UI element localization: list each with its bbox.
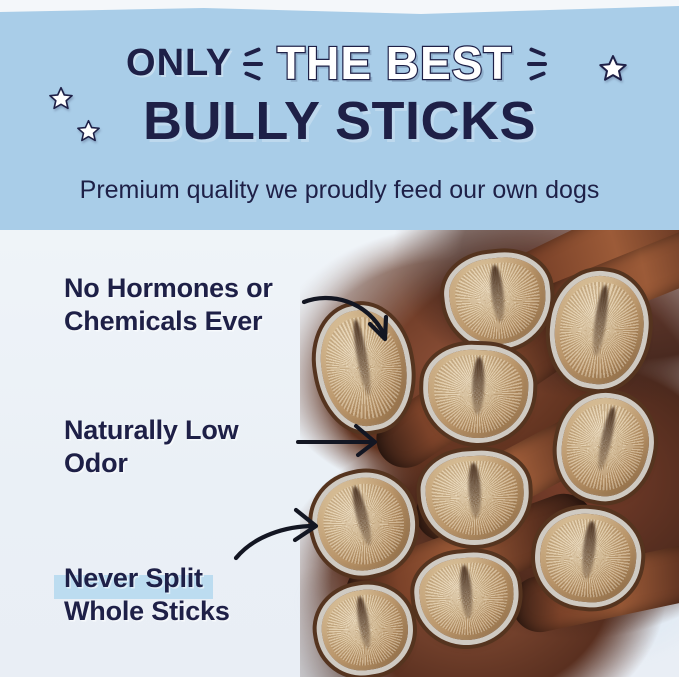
callout-low-odor: Naturally Low Odor	[64, 414, 238, 480]
callout-no-hormones: No Hormones or Chemicals Ever	[64, 272, 273, 338]
curved-arrow-up-right-icon	[232, 502, 337, 572]
straight-arrow-right-icon	[296, 420, 388, 460]
headline-line-2: BULLY STICKS	[0, 90, 679, 152]
header-banner: ONLY THE BEST BULLY STICKS Premium quali…	[0, 6, 679, 230]
headline-line-1: ONLY THE BEST	[0, 36, 679, 90]
headline-the-best: THE BEST	[277, 36, 512, 90]
headline-only: ONLY	[126, 42, 232, 85]
callout-line-1: Naturally Low	[64, 414, 238, 447]
callout-line-1: No Hormones or	[64, 272, 273, 305]
sparkle-burst-left-icon	[242, 41, 268, 85]
callout-never-split: Never Split Whole Sticks	[64, 562, 230, 628]
callout-highlight: Never Split	[64, 562, 203, 595]
callout-line-2: Chemicals Ever	[64, 305, 273, 338]
product-feature-infographic: ONLY THE BEST BULLY STICKS Premium quali…	[0, 0, 679, 677]
curved-arrow-down-right-icon	[300, 284, 410, 354]
sparkle-burst-right-icon	[522, 41, 548, 85]
star-top-left-icon	[48, 86, 74, 112]
callout-line-2: Whole Sticks	[64, 595, 230, 628]
callout-line-2: Odor	[64, 447, 238, 480]
star-lower-left-icon	[76, 119, 101, 144]
callout-line-1: Never Split	[64, 562, 230, 595]
star-right-icon	[598, 54, 628, 84]
header-subtitle: Premium quality we proudly feed our own …	[0, 176, 679, 205]
